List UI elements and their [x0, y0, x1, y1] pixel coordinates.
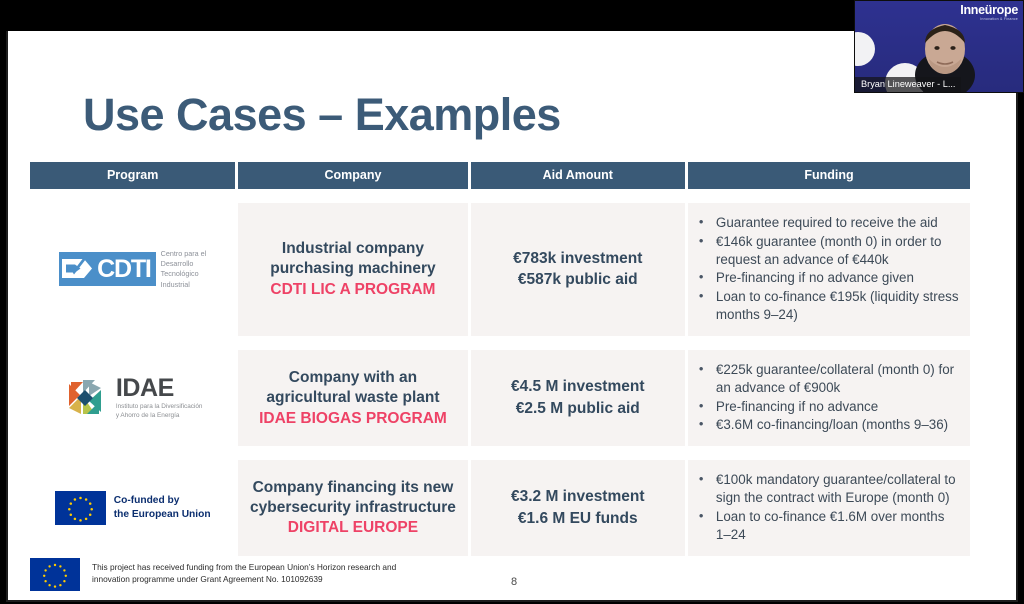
aid-line-2: €1.6 M EU funds: [518, 508, 638, 530]
table-row: Co-funded by the European Union Company …: [30, 460, 970, 555]
column-header-funding: Funding: [688, 162, 970, 189]
funding-list: Guarantee required to receive the aid €1…: [694, 214, 962, 324]
funding-item: Loan to co-finance €1.6M over months 1–2…: [694, 508, 962, 544]
cdti-subtitle: Centro para el Desarrollo Tecnológico In…: [161, 249, 207, 290]
cdti-subtitle-line-3: Tecnológico: [161, 269, 207, 279]
funding-cell: Guarantee required to receive the aid €1…: [688, 203, 970, 336]
company-cell: Industrial company purchasing machinery …: [238, 203, 467, 336]
cdti-logo-box: CDTI: [59, 252, 156, 286]
funding-cell: €225k guarantee/collateral (month 0) for…: [688, 350, 970, 446]
use-cases-table: Program Company Aid Amount Funding: [30, 162, 970, 556]
cdti-subtitle-line-1: Centro para el: [161, 249, 207, 259]
cdti-logo: CDTI Centro para el Desarrollo Tecnológi…: [59, 249, 206, 290]
inneurope-tagline: Innovation & Finance: [960, 17, 1018, 21]
idae-diamond-icon: [63, 376, 109, 420]
aid-line-1: €3.2 M investment: [511, 486, 645, 508]
company-line-1: Company with an: [289, 368, 417, 388]
aid-line-1: €783k investment: [513, 248, 642, 270]
aid-amount-cell: €4.5 M investment €2.5 M public aid: [471, 350, 685, 446]
program-logo-cell: Co-funded by the European Union: [30, 460, 235, 555]
funding-item: €146k guarantee (month 0) in order to re…: [694, 233, 962, 269]
inneurope-logo: Inneürope Innovation & Finance: [960, 4, 1018, 21]
funding-item: €100k mandatory guarantee/collateral to …: [694, 471, 962, 507]
eu-logo-line-1: Co-funded by: [114, 494, 211, 507]
table-row: IDAE Instituto para la Diversificación y…: [30, 350, 970, 446]
idae-logo: IDAE Instituto para la Diversificación y…: [63, 376, 203, 421]
meeting-screen: Use Cases – Examples Program Company Aid…: [0, 0, 1024, 604]
eu-cofunded-logo: Co-funded by the European Union: [55, 491, 211, 525]
cdti-subtitle-line-2: Desarrollo: [161, 259, 207, 269]
participant-name-label: Bryan Lineweaver - L...: [855, 77, 961, 92]
idae-subtitle: Instituto para la Diversificación y Ahor…: [116, 402, 203, 421]
eu-stars: [55, 491, 106, 525]
idae-wordmark: IDAE: [116, 376, 203, 400]
program-logo-cell: IDAE Instituto para la Diversificación y…: [30, 350, 235, 446]
company-line-1: Company financing its new: [253, 478, 454, 498]
footer-text-line-1: This project has received funding from t…: [92, 561, 396, 573]
program-tag: DIGITAL EUROPE: [288, 518, 418, 538]
funding-item: Guarantee required to receive the aid: [694, 214, 962, 232]
company-line-2: agricultural waste plant: [266, 388, 439, 408]
idae-subtitle-line-1: Instituto para la Diversificación: [116, 402, 203, 411]
program-logo-cell: CDTI Centro para el Desarrollo Tecnológi…: [30, 203, 235, 336]
aid-line-2: €587k public aid: [518, 269, 638, 291]
company-cell: Company financing its new cybersecurity …: [238, 460, 467, 555]
funding-item: Pre-financing if no advance: [694, 398, 962, 416]
page-number: 8: [8, 576, 1020, 588]
idae-text-block: IDAE Instituto para la Diversificación y…: [116, 376, 203, 421]
eu-logo-text: Co-funded by the European Union: [114, 494, 211, 521]
presentation-slide: Use Cases – Examples Program Company Aid…: [6, 31, 1018, 602]
table-row: CDTI Centro para el Desarrollo Tecnológi…: [30, 203, 970, 336]
funding-list: €225k guarantee/collateral (month 0) for…: [694, 361, 962, 434]
column-header-aid-amount: Aid Amount: [471, 162, 685, 189]
funding-list: €100k mandatory guarantee/collateral to …: [694, 471, 962, 543]
program-tag: IDAE BIOGAS PROGRAM: [259, 409, 447, 429]
funding-item: Loan to co-finance €195k (liquidity stre…: [694, 288, 962, 324]
company-line-2: cybersecurity infrastructure: [250, 498, 456, 518]
funding-item: €225k guarantee/collateral (month 0) for…: [694, 361, 962, 397]
column-header-company: Company: [238, 162, 467, 189]
column-header-program: Program: [30, 162, 235, 189]
aid-line-1: €4.5 M investment: [511, 376, 645, 398]
webcam-tile[interactable]: Inneürope Innovation & Finance Bryan Lin…: [854, 0, 1024, 93]
table-header-row: Program Company Aid Amount Funding: [30, 162, 970, 189]
company-line-2: purchasing machinery: [270, 259, 435, 279]
aid-amount-cell: €783k investment €587k public aid: [471, 203, 685, 336]
cdti-arrow-check-icon: [62, 255, 96, 283]
program-tag: CDTI LIC A PROGRAM: [270, 280, 435, 300]
page-title: Use Cases – Examples: [83, 89, 561, 141]
company-line-1: Industrial company: [282, 239, 424, 259]
company-cell: Company with an agricultural waste plant…: [238, 350, 467, 446]
aid-amount-cell: €3.2 M investment €1.6 M EU funds: [471, 460, 685, 555]
funding-cell: €100k mandatory guarantee/collateral to …: [688, 460, 970, 555]
aid-line-2: €2.5 M public aid: [516, 398, 640, 420]
cdti-subtitle-line-4: Industrial: [161, 280, 207, 290]
cdti-wordmark: CDTI: [97, 256, 151, 282]
idae-subtitle-line-2: y Ahorro de la Energía: [116, 411, 203, 420]
inneurope-wordmark: Inneürope: [960, 4, 1018, 17]
eu-logo-line-2: the European Union: [114, 508, 211, 521]
funding-item: Pre-financing if no advance given: [694, 269, 962, 287]
funding-item: €3.6M co-financing/loan (months 9–36): [694, 416, 962, 434]
eu-flag-icon: [55, 491, 106, 525]
